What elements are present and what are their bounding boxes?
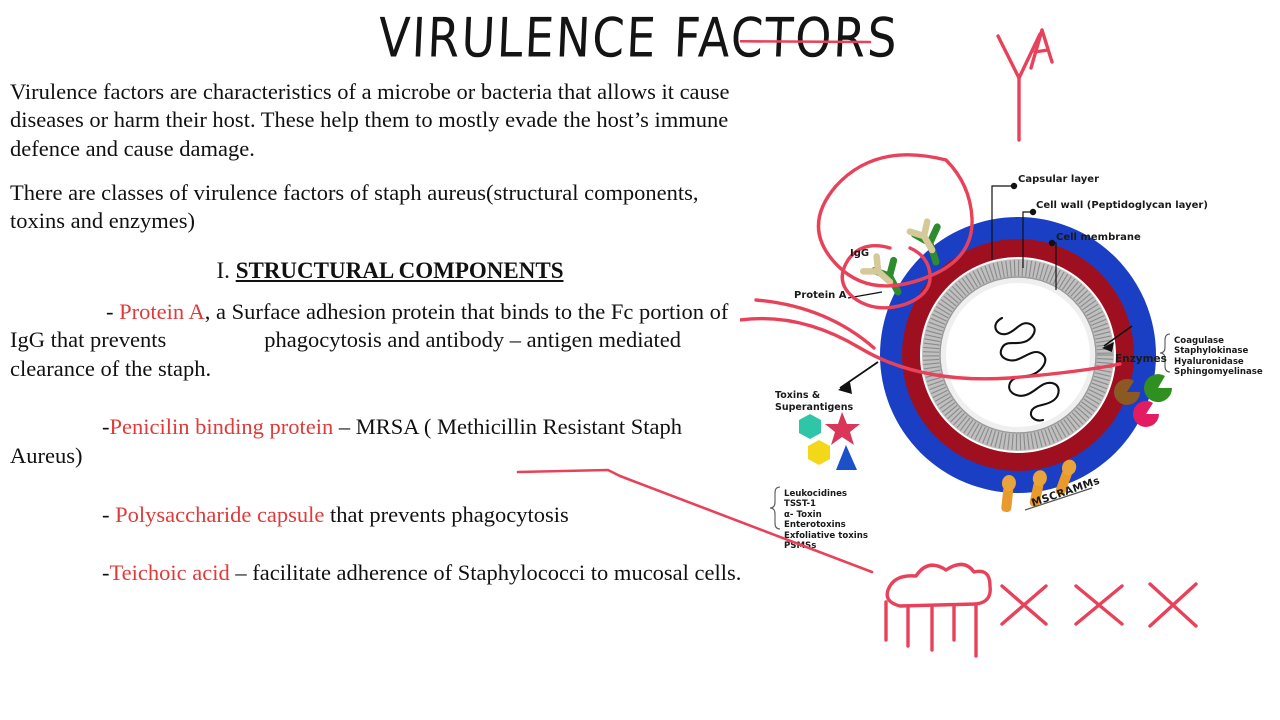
toxin-list-item: Exfoliative toxins	[784, 531, 868, 541]
label-cell-wall: Cell wall (Peptidoglycan layer)	[1036, 200, 1208, 211]
enzyme-list-item: Sphingomyelinase	[1174, 367, 1263, 377]
bullet-penicilin-binding-protein: -Penicilin binding protein – MRSA ( Meth…	[10, 413, 750, 470]
toxin-hexagon-teal	[799, 414, 821, 439]
paragraph-definition: Virulence factors are characteristics of…	[10, 78, 750, 163]
cytoplasm	[946, 283, 1090, 427]
toxin-list-item: PSMSs	[784, 541, 868, 551]
paragraph-classes: There are classes of virulence factors o…	[10, 179, 750, 236]
label-igg: IgG	[850, 248, 869, 259]
label-toxins-line1: Toxins &	[775, 390, 853, 402]
bullet-dash: -	[106, 299, 119, 324]
toxin-list: Leukocidines TSST-1 α- Toxin Enterotoxin…	[784, 489, 868, 552]
bullet-dash: -	[102, 560, 110, 585]
bullet-dash: -	[102, 414, 110, 439]
label-cell-membrane: Cell membrane	[1056, 232, 1141, 243]
bullet-dash: -	[102, 502, 115, 527]
bullet-polysaccharide-capsule: - Polysaccharide capsule that prevents p…	[10, 501, 750, 530]
enzyme-list-item: Hyaluronidase	[1174, 357, 1263, 367]
label-protein-a: Protein A	[794, 290, 846, 301]
label-enzymes: Enzymes	[1115, 353, 1167, 365]
bullet-text-a: that prevents phagocytosis	[324, 502, 568, 527]
bullet-teichoic-acid: -Teichoic acid – facilitate adherence of…	[10, 559, 750, 588]
toxin-list-item: TSST-1	[784, 499, 868, 509]
toxin-star-red	[825, 412, 860, 445]
toxin-triangle-blue	[836, 445, 857, 470]
bullet-term-protein-a: Protein A	[119, 299, 205, 324]
section-heading-text: STRUCTURAL COMPONENTS	[236, 258, 564, 283]
toxin-list-item: Leukocidines	[784, 489, 868, 499]
bullet-text-a: – facilitate adherence of Staphylococci …	[230, 560, 742, 585]
protein-a-arrow	[848, 292, 882, 298]
toxin-hexagon-yellow	[808, 440, 830, 465]
label-toxins-line2: Superantigens	[775, 402, 853, 414]
section-numeral: I.	[217, 258, 230, 283]
bullet-term-penicilin-binding-protein: Penicilin binding protein	[110, 414, 334, 439]
enzyme-blob-pink	[1133, 401, 1159, 427]
bullet-term-teichoic-acid: Teichoic acid	[110, 560, 230, 585]
toxin-list-item: Enterotoxins	[784, 520, 868, 530]
bacterial-cell-diagram: Capsular layer Cell wall (Peptidoglycan …	[740, 0, 1280, 720]
enzyme-list-item: Staphylokinase	[1174, 346, 1263, 356]
enzyme-list: Coagulase Staphylokinase Hyaluronidase S…	[1174, 336, 1263, 378]
toxin-list-item: α- Toxin	[784, 510, 868, 520]
section-heading-structural-components: I. STRUCTURAL COMPONENTS	[10, 258, 750, 284]
label-toxins-superantigens: Toxins & Superantigens	[775, 390, 853, 414]
enzyme-blob-green	[1144, 374, 1172, 402]
enzyme-list-item: Coagulase	[1174, 336, 1263, 346]
bullet-term-polysaccharide-capsule: Polysaccharide capsule	[115, 502, 324, 527]
bullet-protein-a: - Protein A, a Surface adhesion protein …	[10, 298, 750, 384]
label-capsular-layer: Capsular layer	[1018, 174, 1099, 185]
text-column: Virulence factors are characteristics of…	[10, 78, 750, 618]
toxin-shapes	[799, 412, 860, 470]
toxin-list-brace	[770, 487, 780, 529]
